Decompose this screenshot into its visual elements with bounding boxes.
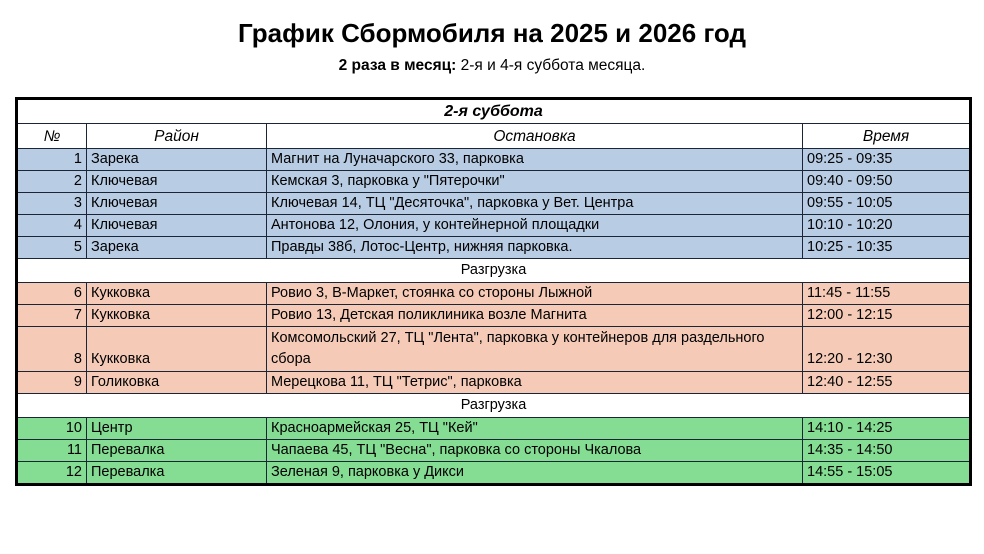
row-time: 14:10 - 14:25 — [803, 418, 971, 440]
table-banner-row: 2-я суббота — [17, 99, 971, 124]
row-time: 14:35 - 14:50 — [803, 440, 971, 462]
page-subtitle: 2 раза в месяц: 2-я и 4-я суббота месяца… — [0, 56, 984, 76]
row-stop: Антонова 12, Олония, у контейнерной площ… — [267, 215, 803, 237]
row-district: Зарека — [87, 149, 267, 171]
table-row[interactable]: 6 Кукковка Ровио 3, В-Маркет, стоянка со… — [17, 283, 971, 305]
table-row[interactable]: 4 Ключевая Антонова 12, Олония, у контей… — [17, 215, 971, 237]
table-row[interactable]: 12 Перевалка Зеленая 9, парковка у Дикси… — [17, 462, 971, 485]
row-time: 09:25 - 09:35 — [803, 149, 971, 171]
row-number: 1 — [17, 149, 87, 171]
table-row[interactable]: 3 Ключевая Ключевая 14, ТЦ "Десяточка", … — [17, 193, 971, 215]
table-header-row: № Район Остановка Время — [17, 124, 971, 149]
subtitle-detail: 2-я и 4-я суббота месяца. — [456, 57, 645, 74]
schedule-table: 2-я суббота № Район Остановка Время 1 За… — [15, 97, 972, 486]
row-district: Перевалка — [87, 462, 267, 485]
row-stop: Чапаева 45, ТЦ "Весна", парковка со стор… — [267, 440, 803, 462]
unload-separator-row: Разгрузка — [17, 394, 971, 418]
row-district: Ключевая — [87, 193, 267, 215]
row-district: Перевалка — [87, 440, 267, 462]
row-number: 3 — [17, 193, 87, 215]
column-header-stop: Остановка — [267, 124, 803, 149]
table-row[interactable]: 5 Зарека Правды 38б, Лотос-Центр, нижняя… — [17, 237, 971, 259]
row-time: 12:20 - 12:30 — [803, 327, 971, 372]
row-stop: Кемская 3, парковка у "Пятерочки" — [267, 171, 803, 193]
row-time: 10:10 - 10:20 — [803, 215, 971, 237]
row-time: 12:00 - 12:15 — [803, 305, 971, 327]
row-stop: Зеленая 9, парковка у Дикси — [267, 462, 803, 485]
table-row[interactable]: 7 Кукковка Ровио 13, Детская поликлиника… — [17, 305, 971, 327]
row-district: Центр — [87, 418, 267, 440]
page-heading: График Сбормобиля на 2025 и 2026 год 2 р… — [0, 0, 984, 76]
row-number: 9 — [17, 372, 87, 394]
row-stop: Магнит на Луначарского 33, парковка — [267, 149, 803, 171]
column-header-time: Время — [803, 124, 971, 149]
row-district: Ключевая — [87, 171, 267, 193]
unload-separator-row: Разгрузка — [17, 259, 971, 283]
row-time: 09:40 - 09:50 — [803, 171, 971, 193]
banner-label: 2-я суббота — [17, 99, 971, 124]
row-stop: Ровио 13, Детская поликлиника возле Магн… — [267, 305, 803, 327]
page-title: График Сбормобиля на 2025 и 2026 год — [0, 18, 984, 48]
subtitle-frequency: 2 раза в месяц: — [339, 57, 457, 74]
row-number: 4 — [17, 215, 87, 237]
unload-label: Разгрузка — [17, 259, 971, 283]
row-time: 09:55 - 10:05 — [803, 193, 971, 215]
row-number: 7 — [17, 305, 87, 327]
row-district: Кукковка — [87, 283, 267, 305]
row-stop: Ключевая 14, ТЦ "Десяточка", парковка у … — [267, 193, 803, 215]
row-number: 10 — [17, 418, 87, 440]
row-number: 8 — [17, 327, 87, 372]
row-district: Кукковка — [87, 327, 267, 372]
row-time: 11:45 - 11:55 — [803, 283, 971, 305]
row-district: Кукковка — [87, 305, 267, 327]
row-district: Зарека — [87, 237, 267, 259]
row-stop: Мерецкова 11, ТЦ "Тетрис", парковка — [267, 372, 803, 394]
row-number: 6 — [17, 283, 87, 305]
row-time: 12:40 - 12:55 — [803, 372, 971, 394]
table-row[interactable]: 11 Перевалка Чапаева 45, ТЦ "Весна", пар… — [17, 440, 971, 462]
row-district: Голиковка — [87, 372, 267, 394]
row-time: 14:55 - 15:05 — [803, 462, 971, 485]
row-stop: Правды 38б, Лотос-Центр, нижняя парковка… — [267, 237, 803, 259]
row-time: 10:25 - 10:35 — [803, 237, 971, 259]
row-number: 12 — [17, 462, 87, 485]
table-row[interactable]: 10 Центр Красноармейская 25, ТЦ "Кей" 14… — [17, 418, 971, 440]
unload-label: Разгрузка — [17, 394, 971, 418]
schedule-page: График Сбормобиля на 2025 и 2026 год 2 р… — [0, 0, 984, 554]
table-row[interactable]: 1 Зарека Магнит на Луначарского 33, парк… — [17, 149, 971, 171]
row-district: Ключевая — [87, 215, 267, 237]
column-header-district: Район — [87, 124, 267, 149]
schedule-table-container: 2-я суббота № Район Остановка Время 1 За… — [15, 97, 969, 486]
table-row[interactable]: 9 Голиковка Мерецкова 11, ТЦ "Тетрис", п… — [17, 372, 971, 394]
row-stop: Красноармейская 25, ТЦ "Кей" — [267, 418, 803, 440]
row-number: 5 — [17, 237, 87, 259]
row-number: 11 — [17, 440, 87, 462]
schedule-table-body: 2-я суббота № Район Остановка Время 1 За… — [17, 99, 971, 485]
table-row[interactable]: 2 Ключевая Кемская 3, парковка у "Пятеро… — [17, 171, 971, 193]
table-row[interactable]: 8 Кукковка Комсомольский 27, ТЦ "Лента",… — [17, 327, 971, 372]
row-stop: Ровио 3, В-Маркет, стоянка со стороны Лы… — [267, 283, 803, 305]
column-header-number: № — [17, 124, 87, 149]
row-number: 2 — [17, 171, 87, 193]
row-stop: Комсомольский 27, ТЦ "Лента", парковка у… — [267, 327, 803, 372]
